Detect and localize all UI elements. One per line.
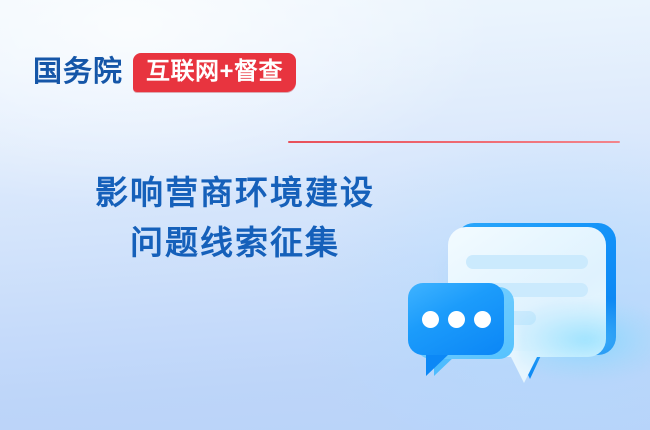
typing-dot-3 <box>474 311 491 328</box>
small-bubble-tail <box>426 353 450 376</box>
badge-label: 互联网+督查 <box>146 60 283 84</box>
typing-dot-1 <box>422 311 439 328</box>
banner-header: 国务院 互联网+督查 <box>0 48 650 102</box>
typing-dots-group <box>408 283 504 355</box>
promo-banner: 国务院 互联网+督查 影响营商环境建设 问题线索征集 <box>0 0 650 430</box>
gov-council-label: 国务院 <box>33 58 123 87</box>
bubble-content-line-1 <box>466 255 588 269</box>
header-brand-group: 国务院 互联网+督查 <box>33 48 296 96</box>
bubble-glow-lower <box>518 300 650 380</box>
chat-bubbles-illustration <box>398 205 650 400</box>
typing-dot-2 <box>448 311 465 328</box>
internet-plus-supervision-badge[interactable]: 互联网+督查 <box>133 53 296 92</box>
header-divider-rule <box>288 141 620 143</box>
